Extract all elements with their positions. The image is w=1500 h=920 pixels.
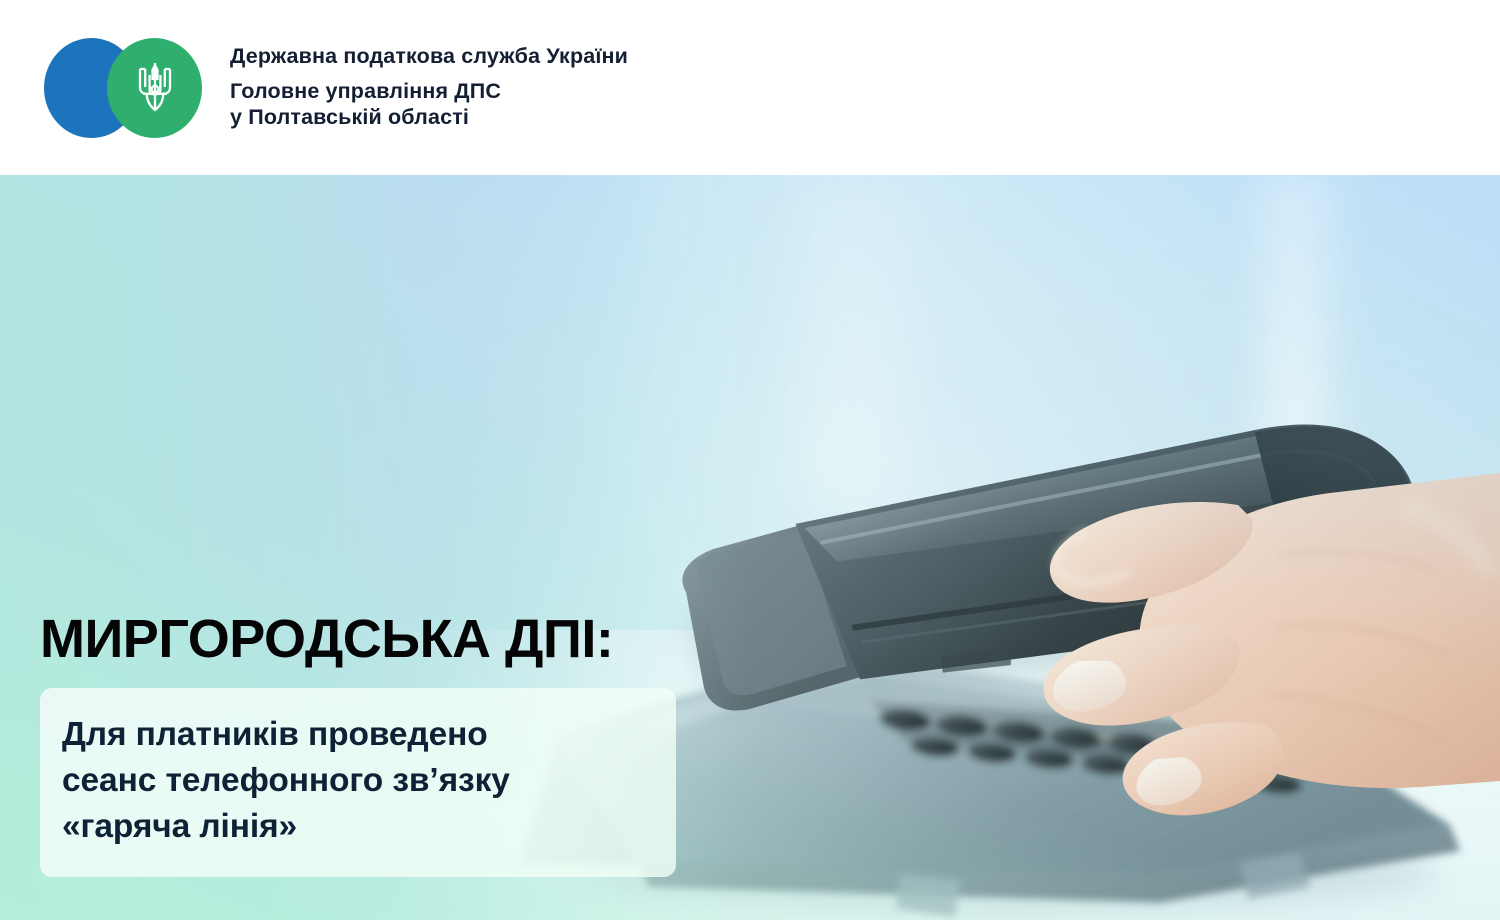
subtitle-line-3: «гаряча лінія» [62,804,650,850]
subtitle-line-2: сеанс телефонного зв’язку [62,758,650,804]
banner-page: Державна податкова служба України Головн… [0,0,1500,920]
org-title-block: Державна податкова служба України Головн… [230,46,628,129]
hero-text-block: МИРГОРОДСЬКА ДПІ: Для платників проведен… [0,175,760,920]
dps-logo [44,38,204,138]
hero-banner: МИРГОРОДСЬКА ДПІ: Для платників проведен… [0,175,1500,920]
subtitle-card: Для платників проведено сеанс телефонног… [40,688,676,877]
org-title-line-1: Державна податкова служба України [230,46,628,68]
page-title: МИРГОРОДСЬКА ДПІ: [40,612,613,666]
org-title-line-3: у Полтавській області [230,107,628,129]
ukrainian-trident-icon [135,60,175,116]
site-header: Державна податкова служба України Головн… [0,0,1500,175]
org-title-line-2: Головне управління ДПС [230,81,628,103]
subtitle-line-1: Для платників проведено [62,712,650,758]
